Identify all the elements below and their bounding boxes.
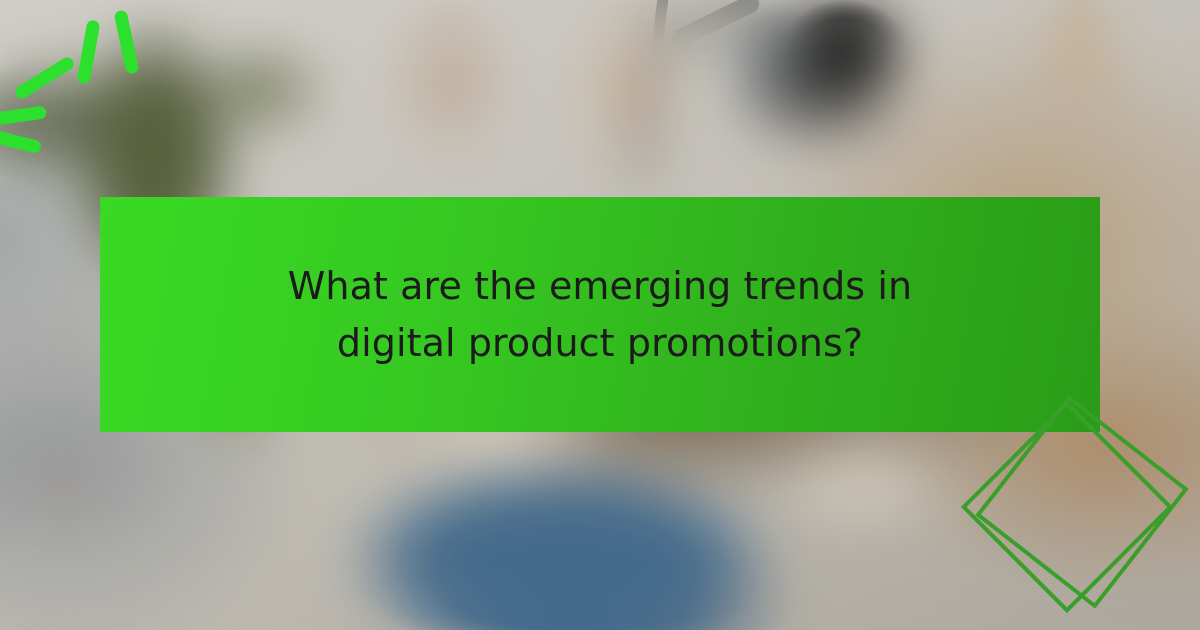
quote-card: What are the emerging trends in digital …: [0, 0, 1200, 630]
sparkle-ray: [113, 9, 139, 74]
headline-text: What are the emerging trends in digital …: [260, 258, 940, 372]
sparkle-ray: [13, 55, 76, 101]
sparkle-ray: [77, 19, 101, 84]
headline-banner: What are the emerging trends in digital …: [100, 197, 1100, 432]
sparkle-ray: [0, 105, 47, 126]
sparkle-ray: [0, 128, 42, 155]
sparkle-burst-icon: [0, 0, 200, 170]
